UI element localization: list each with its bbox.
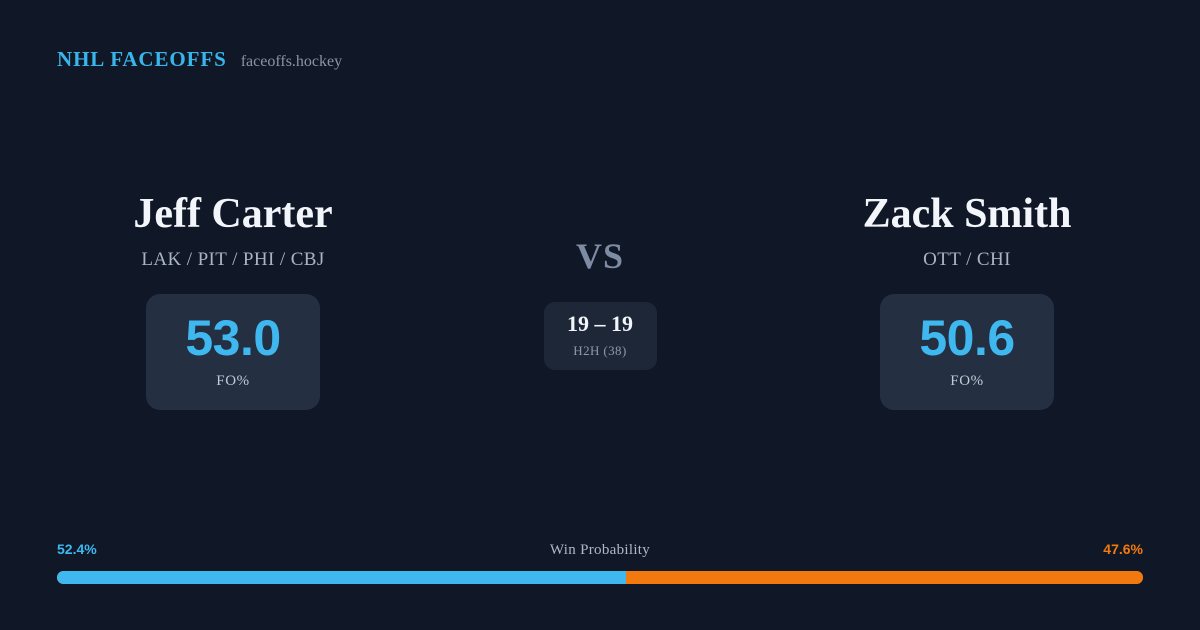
brand-title: NHL FACEOFFS: [57, 47, 227, 72]
brand-domain: faceoffs.hockey: [241, 53, 342, 71]
win-probability-bar-left-segment: [57, 571, 626, 584]
player-teams-right: OTT / CHI: [923, 249, 1011, 271]
win-probability-right-percent: 47.6%: [1103, 541, 1143, 557]
faceoff-percent-label-right: FO%: [950, 373, 983, 390]
player-card-left: Jeff Carter LAK / PIT / PHI / CBJ 53.0 F…: [0, 190, 466, 410]
head-to-head-score: 19 – 19: [567, 313, 633, 335]
brand-header: NHL FACEOFFS faceoffs.hockey: [57, 47, 342, 72]
player-teams-left: LAK / PIT / PHI / CBJ: [141, 249, 324, 271]
win-probability-bar-right-segment: [626, 571, 1143, 584]
win-probability-left-percent: 52.4%: [57, 541, 97, 557]
stat-card-left: 53.0 FO%: [146, 294, 320, 410]
faceoff-percent-label-left: FO%: [216, 373, 249, 390]
player-name-right: Zack Smith: [863, 190, 1072, 240]
versus-label: VS: [576, 238, 624, 274]
win-probability-bar: [57, 571, 1143, 584]
player-card-right: Zack Smith OTT / CHI 50.6 FO%: [734, 190, 1200, 410]
win-probability-labels: 52.4% Win Probability 47.6%: [57, 541, 1143, 563]
win-probability-title: Win Probability: [550, 542, 650, 559]
stat-card-right: 50.6 FO%: [880, 294, 1054, 410]
head-to-head-card: 19 – 19 H2H (38): [544, 302, 657, 370]
player-name-left: Jeff Carter: [133, 190, 332, 240]
faceoff-percent-value-right: 50.6: [919, 313, 1014, 363]
head-to-head-label: H2H (38): [573, 343, 626, 359]
win-probability-section: 52.4% Win Probability 47.6%: [57, 541, 1143, 584]
faceoff-percent-value-left: 53.0: [185, 313, 280, 363]
versus-column: VS 19 – 19 H2H (38): [466, 190, 734, 370]
matchup-section: Jeff Carter LAK / PIT / PHI / CBJ 53.0 F…: [0, 190, 1200, 410]
